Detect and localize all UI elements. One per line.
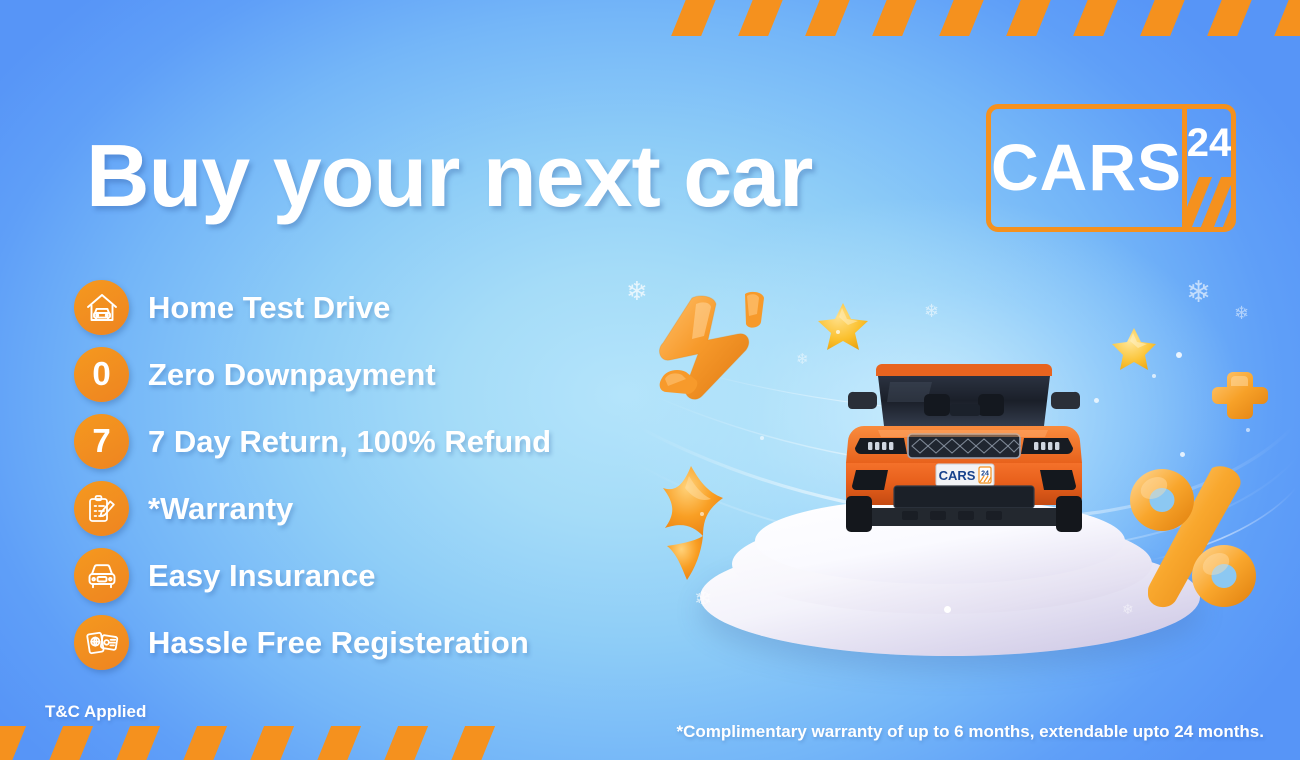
feature-item[interactable]: Hassle Free Registeration (74, 609, 551, 676)
feature-label: *Warranty (148, 491, 293, 527)
feature-label: Zero Downpayment (148, 357, 436, 393)
snowflake-icon: ❄ (924, 302, 939, 320)
feature-label: 7 Day Return, 100% Refund (148, 424, 551, 460)
terms-text: T&C Applied (45, 702, 146, 722)
feature-label: Easy Insurance (148, 558, 375, 594)
badge-number: 7 (92, 424, 110, 459)
snowflake-icon: ❄ (1234, 304, 1249, 322)
documents-icon (74, 615, 129, 670)
star-decoration (1110, 326, 1158, 377)
logo-hatch-stripes (1187, 177, 1231, 227)
sparkle-dot (760, 436, 764, 440)
home-car-icon (74, 280, 129, 335)
logo-wordmark: CARS (991, 109, 1182, 227)
feature-item[interactable]: *Warranty (74, 475, 551, 542)
logo-number: 24 (1187, 121, 1231, 166)
snowflake-icon: ❄ (626, 278, 648, 304)
sparkle-dot (1246, 428, 1250, 432)
snowflake-icon: ❄ (1186, 278, 1211, 308)
svg-text:CARS: CARS (939, 468, 976, 483)
stripe-decoration-bottom-left (0, 722, 520, 760)
car-illustration: CARS 24 (838, 338, 1090, 538)
feature-item[interactable]: 7 7 Day Return, 100% Refund (74, 408, 551, 475)
star-decoration (645, 462, 741, 591)
feature-item[interactable]: Home Test Drive (74, 274, 551, 341)
sparkle-dot (1176, 352, 1182, 358)
cars24-logo[interactable]: CARS 24 (986, 104, 1236, 232)
lightning-chip-decoration (737, 290, 771, 335)
feature-label: Home Test Drive (148, 290, 390, 326)
plus-sign-decoration (1212, 368, 1268, 427)
feature-item[interactable]: Easy Insurance (74, 542, 551, 609)
stripe-decoration-top-right (660, 0, 1300, 36)
clipboard-pen-icon (74, 481, 129, 536)
sparkle-dot (1094, 398, 1099, 403)
seven-number-icon: 7 (74, 414, 129, 469)
car-front-icon (74, 548, 129, 603)
sparkle-dot (1180, 452, 1185, 457)
star-decoration (815, 300, 871, 357)
snowflake-icon: ❄ (796, 352, 809, 367)
zero-number-icon: 0 (74, 347, 129, 402)
percent-sign-decoration (1128, 466, 1258, 617)
feature-list: Home Test Drive 0 Zero Downpayment 7 7 D… (74, 274, 551, 676)
headline: Buy your next car (86, 132, 812, 220)
disclaimer-text: *Complimentary warranty of up to 6 month… (676, 722, 1264, 742)
lightning-chip-decoration (656, 368, 700, 403)
feature-item[interactable]: 0 Zero Downpayment (74, 341, 551, 408)
feature-label: Hassle Free Registeration (148, 625, 529, 661)
logo-number-block: 24 (1187, 109, 1231, 227)
promo-banner: Buy your next car CARS 24 (0, 0, 1300, 760)
badge-number: 0 (92, 357, 110, 392)
